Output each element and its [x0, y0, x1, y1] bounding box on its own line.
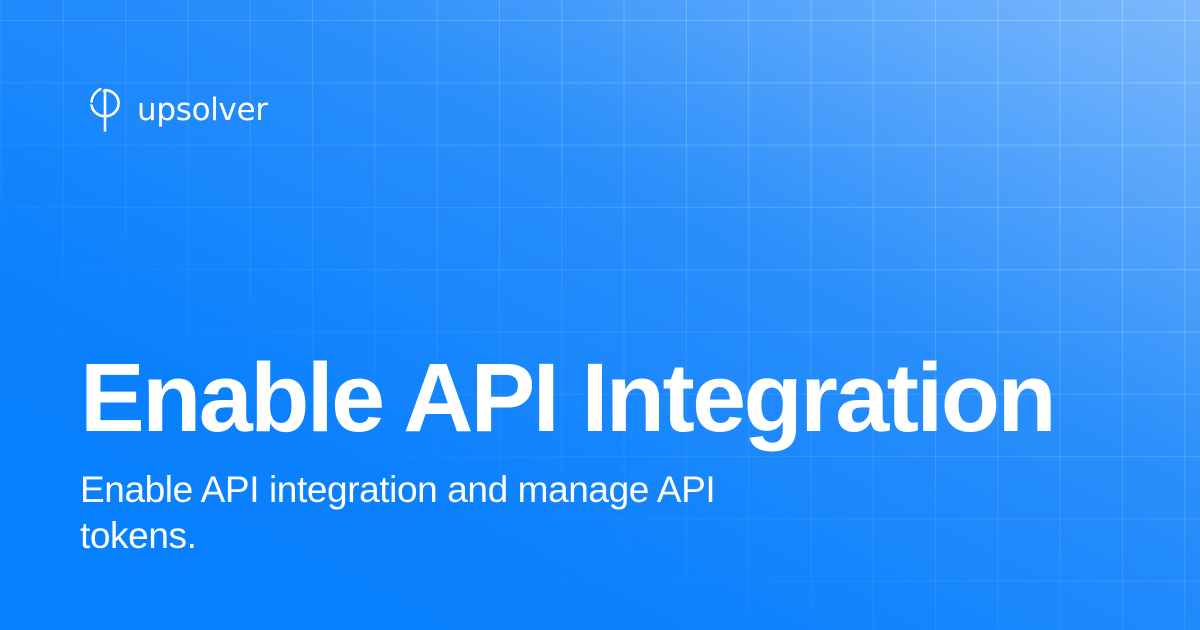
og-card: upsolver Enable API Integration Enable A…: [0, 0, 1200, 630]
hero-content: Enable API Integration Enable API integr…: [80, 350, 1120, 558]
brand-logo[interactable]: upsolver: [88, 84, 268, 136]
brand-wordmark: upsolver: [137, 95, 268, 126]
upsolver-phi-logo-icon: [88, 87, 122, 133]
page-subtitle: Enable API integration and manage API to…: [80, 467, 770, 558]
page-title: Enable API Integration: [80, 350, 1120, 445]
